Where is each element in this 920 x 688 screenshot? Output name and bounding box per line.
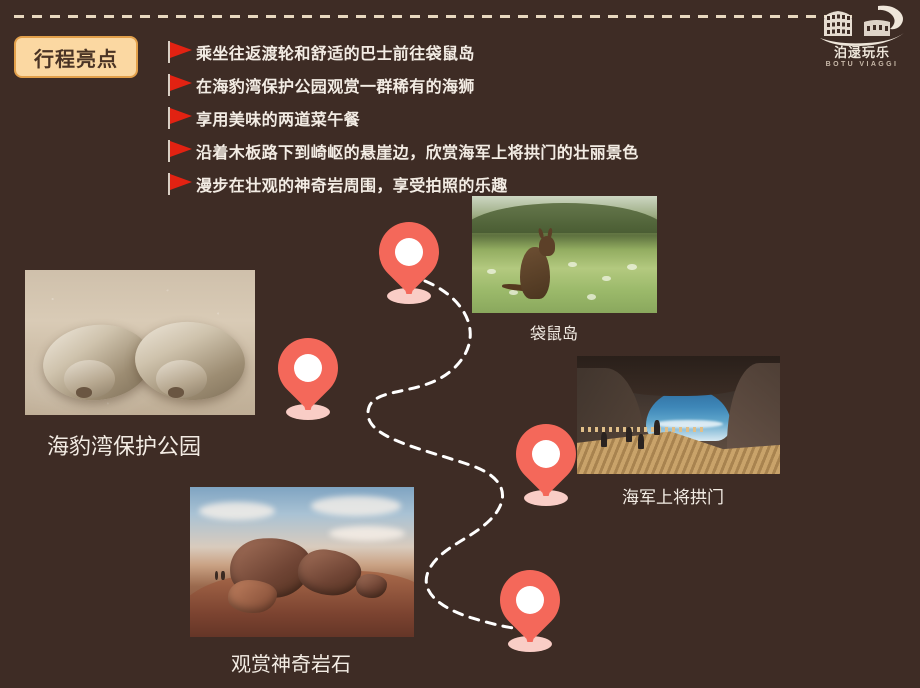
caption-seal-bay: 海豹湾保护公园	[47, 429, 201, 461]
photo-kangaroo-island	[472, 196, 657, 313]
top-dashed-divider	[14, 15, 852, 18]
highlight-item: 沿着木板路下到崎岖的悬崖边，欣赏海军上将拱门的壮丽景色	[168, 137, 868, 165]
map-pin-icon[interactable]	[376, 222, 442, 304]
photo-remarkable-rocks	[190, 487, 414, 637]
map-pin-icon[interactable]	[497, 570, 563, 652]
highlights-badge: 行程亮点	[14, 36, 138, 78]
highlight-text: 乘坐往返渡轮和舒适的巴士前往袋鼠岛	[196, 40, 475, 64]
red-flag-icon	[168, 41, 196, 63]
red-flag-icon	[168, 140, 196, 162]
caption-kangaroo-island: 袋鼠岛	[530, 320, 578, 344]
map-pin-icon[interactable]	[275, 338, 341, 420]
highlight-text: 漫步在壮观的神奇岩周围，享受拍照的乐趣	[196, 172, 508, 196]
highlights-badge-label: 行程亮点	[34, 43, 118, 72]
photo-admirals-arch	[577, 356, 780, 474]
highlight-item: 漫步在壮观的神奇岩周围，享受拍照的乐趣	[168, 170, 868, 198]
highlight-text: 沿着木板路下到崎岖的悬崖边，欣赏海军上将拱门的壮丽景色	[196, 139, 639, 163]
highlight-text: 在海豹湾保护公园观赏一群稀有的海狮	[196, 73, 475, 97]
highlights-list: 乘坐往返渡轮和舒适的巴士前往袋鼠岛 在海豹湾保护公园观赏一群稀有的海狮 享用美味…	[168, 38, 868, 203]
red-flag-icon	[168, 107, 196, 129]
highlight-item: 享用美味的两道菜午餐	[168, 104, 868, 132]
highlight-item: 在海豹湾保护公园观赏一群稀有的海狮	[168, 71, 868, 99]
red-flag-icon	[168, 173, 196, 195]
highlight-item: 乘坐往返渡轮和舒适的巴士前往袋鼠岛	[168, 38, 868, 66]
photo-seal-bay	[25, 270, 255, 415]
caption-admirals-arch: 海军上将拱门	[622, 483, 724, 508]
itinerary-poster: 泊逯玩乐 BOTU VIAGGI 行程亮点 乘坐往返渡轮和舒适的巴士前往袋鼠岛 …	[0, 0, 920, 688]
highlight-text: 享用美味的两道菜午餐	[196, 106, 360, 130]
map-pin-icon[interactable]	[513, 424, 579, 506]
caption-remarkable-rocks: 观赏神奇岩石	[231, 648, 351, 677]
red-flag-icon	[168, 74, 196, 96]
